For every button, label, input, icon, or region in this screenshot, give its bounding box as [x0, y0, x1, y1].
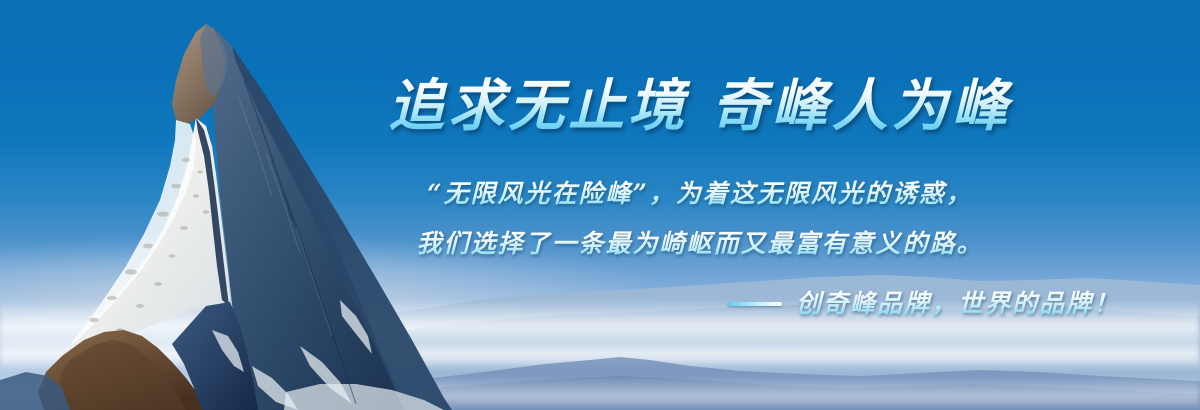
- tagline-dash-icon: [728, 302, 782, 306]
- hero-banner: 追求无止境 奇峰人为峰 “无限风光在险峰”，为着这无限风光的诱惑， 我们选择了一…: [0, 0, 1200, 410]
- banner-subtitle-line-1: “无限风光在险峰”，为着这无限风光的诱惑，: [380, 177, 1020, 211]
- tagline-text: 创奇峰品牌，世界的品牌！: [796, 288, 1120, 320]
- banner-headline: 追求无止境 奇峰人为峰: [380, 74, 1020, 138]
- banner-tagline: 创奇峰品牌，世界的品牌！: [600, 288, 1120, 320]
- banner-subtitle-line-2: 我们选择了一条最为崎岖而又最富有意义的路。: [380, 227, 1020, 261]
